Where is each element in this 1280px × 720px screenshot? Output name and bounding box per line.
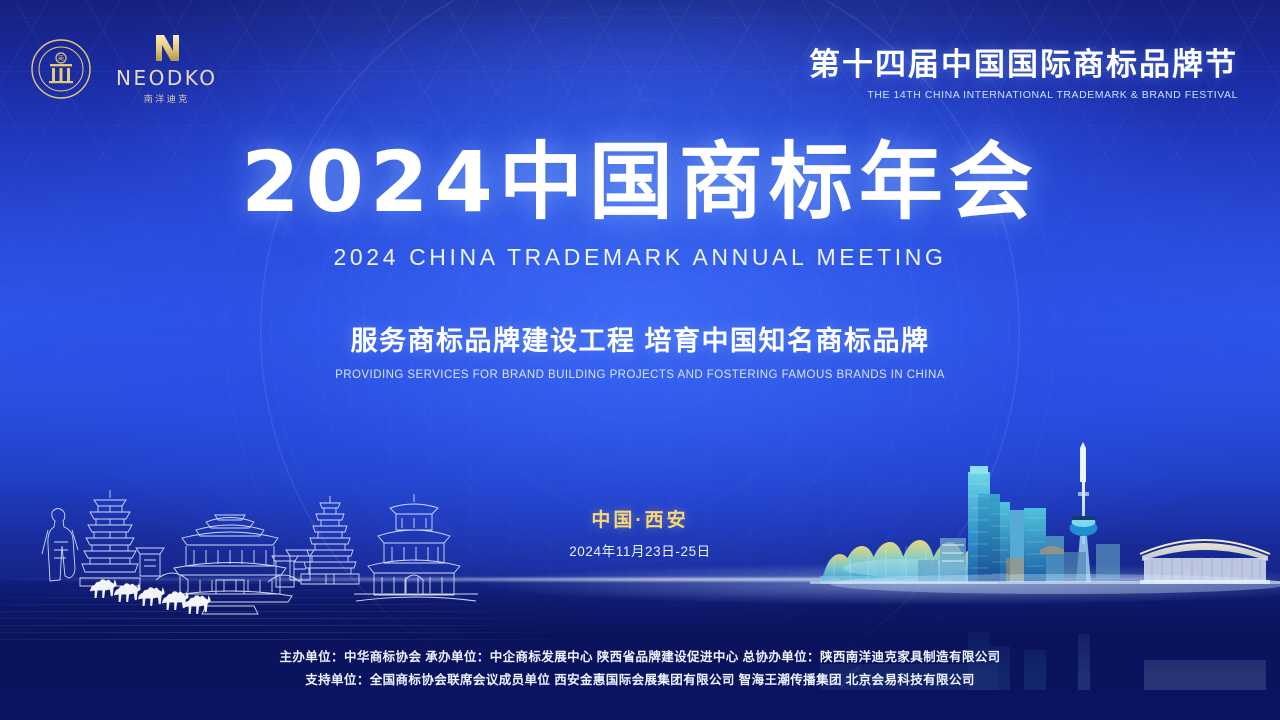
venue-date: 2024年11月23日-25日 (0, 540, 1280, 560)
festival-title-cn: 第十四届中国国际商标品牌节 (809, 48, 1238, 83)
page-subtitle-en: 2024 CHINA TRADEMARK ANNUAL MEETING (0, 244, 1280, 271)
venue-block: 中国·西安 2024年11月23日-25日 (0, 505, 1280, 560)
organizers-line-1: 主办单位：中华商标协会 承办单位：中企商标发展中心 陕西省品牌建设促进中心 总协… (0, 646, 1280, 669)
neodko-chinese-name: 南洋迪克 (144, 92, 190, 105)
svg-text:商: 商 (58, 55, 64, 63)
logo-group: 商 NEODKO 南洋迪克 (30, 33, 218, 105)
ctf-emblem-icon: 商 (30, 38, 92, 100)
organizers-line-2: 支持单位：全国商标协会联席会议成员单位 西安金惠国际会展集团有限公司 智海王潮传… (0, 669, 1280, 692)
horizon-glow-wide (0, 560, 1280, 608)
festival-title-block: 第十四届中国国际商标品牌节 THE 14TH CHINA INTERNATION… (809, 48, 1238, 101)
venue-city: 中国·西安 (0, 505, 1280, 532)
page-title: 2024中国商标年会 (0, 140, 1280, 224)
tagline-en: PROVIDING SERVICES FOR BRAND BUILDING PR… (0, 369, 1280, 381)
neodko-wordmark: NEODKO (116, 66, 218, 90)
organizers-footer: 主办单位：中华商标协会 承办单位：中企商标发展中心 陕西省品牌建设促进中心 总协… (0, 646, 1280, 692)
horizon-light-band (0, 578, 1280, 581)
neodko-logo: NEODKO 南洋迪克 (116, 33, 218, 105)
main-title-block: 2024中国商标年会 2024 CHINA TRADEMARK ANNUAL M… (0, 140, 1280, 381)
tagline-cn: 服务商标品牌建设工程 培育中国知名商标品牌 (0, 319, 1280, 358)
poster-canvas: 商 NEODKO 南洋迪克 第 (0, 0, 1280, 720)
festival-title-en: THE 14TH CHINA INTERNATIONAL TRADEMARK &… (809, 89, 1238, 101)
neodko-n-icon (147, 33, 187, 63)
